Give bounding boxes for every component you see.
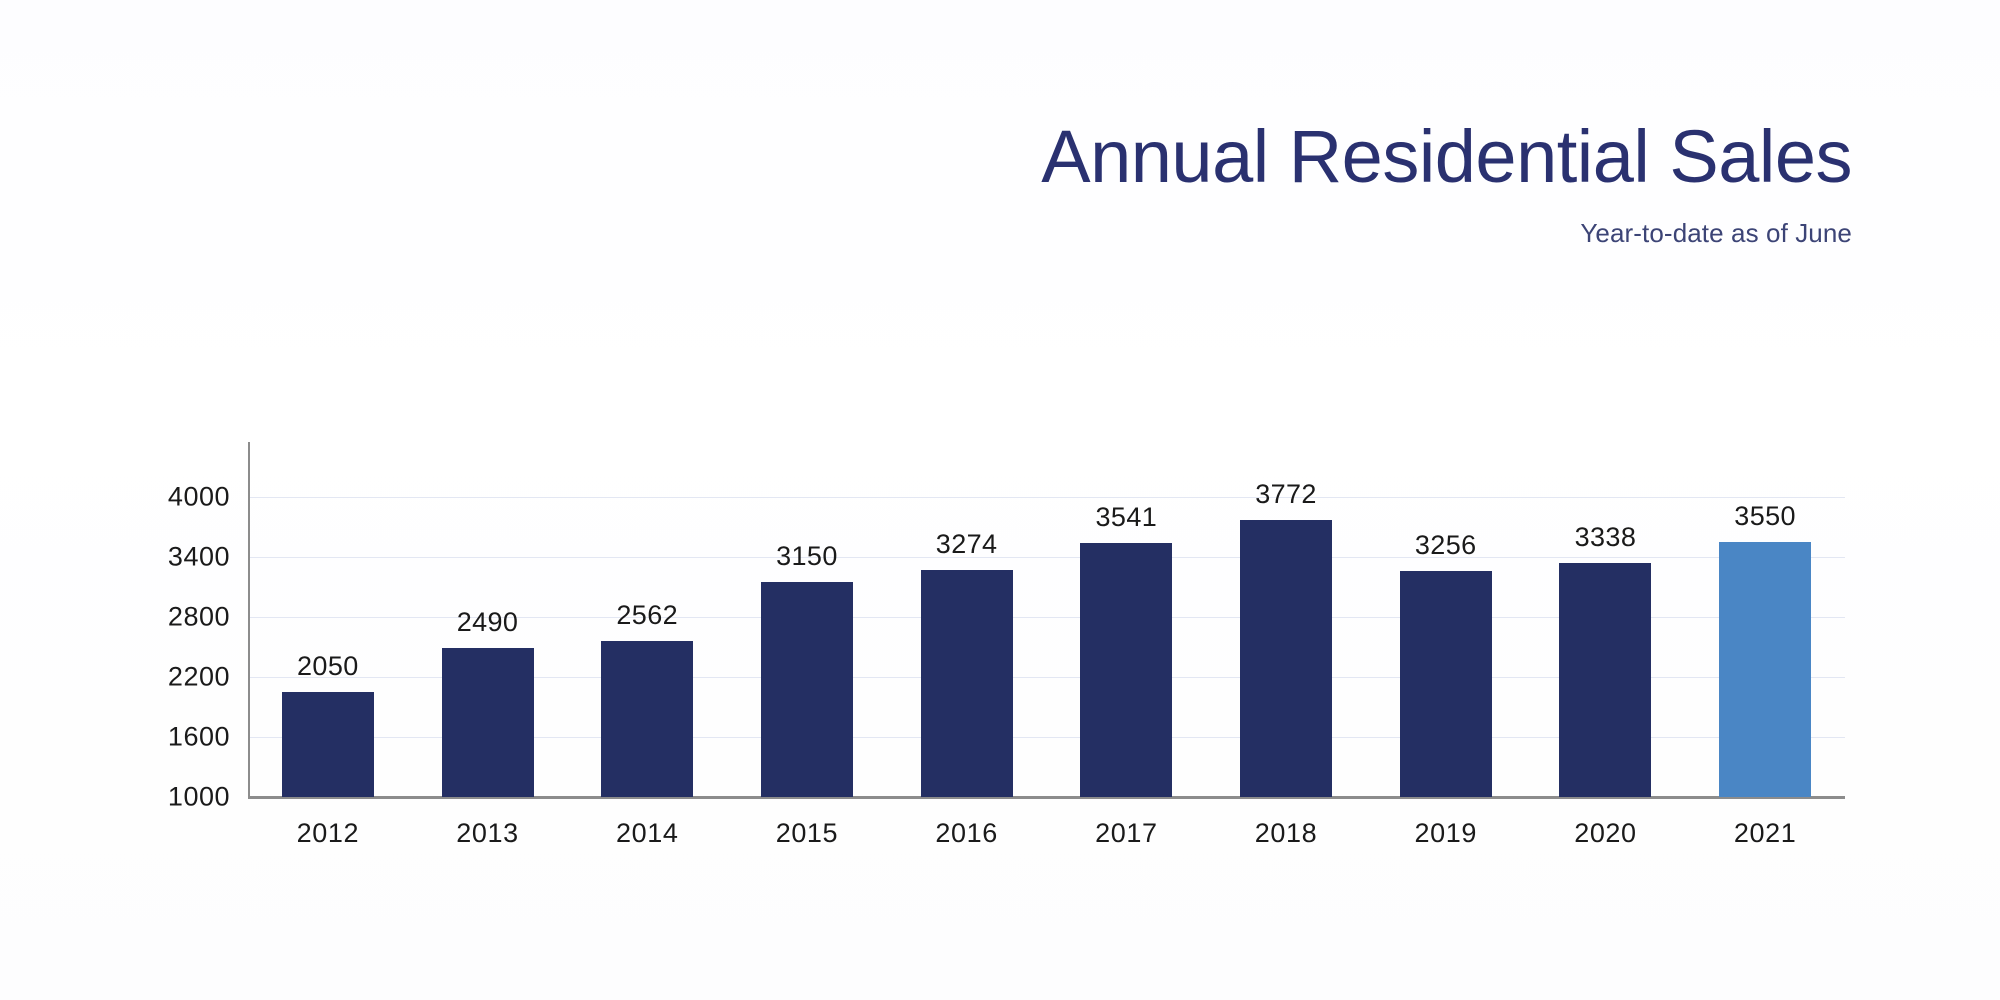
chart-header: Annual Residential Sales Year-to-date as… bbox=[652, 118, 1852, 249]
bar-2014[interactable] bbox=[601, 641, 693, 797]
x-axis-tick-label: 2020 bbox=[1526, 818, 1686, 849]
bar-2012[interactable] bbox=[282, 692, 374, 797]
bar-2017[interactable] bbox=[1080, 543, 1172, 797]
y-axis-tick-label: 1600 bbox=[50, 722, 230, 753]
bar-slot: 2562 bbox=[567, 442, 727, 797]
chart-subtitle: Year-to-date as of June bbox=[652, 218, 1852, 249]
y-axis-tick-label: 2200 bbox=[50, 662, 230, 693]
bar-slot: 3150 bbox=[727, 442, 887, 797]
bar-value-label: 3274 bbox=[887, 529, 1047, 560]
x-axis-tick-label: 2013 bbox=[408, 818, 568, 849]
bar-slot: 2490 bbox=[408, 442, 568, 797]
x-axis-tick-label: 2017 bbox=[1047, 818, 1207, 849]
bar-2018[interactable] bbox=[1240, 520, 1332, 797]
bar-value-label: 2490 bbox=[408, 607, 568, 638]
bar-2015[interactable] bbox=[761, 582, 853, 797]
page-title: Annual Residential Sales bbox=[652, 118, 1852, 196]
bar-slot: 3772 bbox=[1206, 442, 1366, 797]
bar-value-label: 3541 bbox=[1047, 502, 1207, 533]
bar-slot: 2050 bbox=[248, 442, 408, 797]
bars-group: 2050249025623150327435413772325633383550 bbox=[248, 442, 1845, 797]
bar-value-label: 3256 bbox=[1366, 530, 1526, 561]
x-axis-tick-label: 2019 bbox=[1366, 818, 1526, 849]
bar-2013[interactable] bbox=[442, 648, 534, 797]
bar-value-label: 3150 bbox=[727, 541, 887, 572]
bar-value-label: 2050 bbox=[248, 651, 408, 682]
bar-slot: 3256 bbox=[1366, 442, 1526, 797]
y-axis-tick-label: 4000 bbox=[50, 482, 230, 513]
bar-2021[interactable] bbox=[1719, 542, 1811, 797]
x-axis-tick-label: 2015 bbox=[727, 818, 887, 849]
bar-slot: 3550 bbox=[1685, 442, 1845, 797]
x-axis-tick-label: 2016 bbox=[887, 818, 1047, 849]
x-axis-tick-label: 2014 bbox=[567, 818, 727, 849]
y-axis-tick-label: 1000 bbox=[50, 782, 230, 813]
bar-slot: 3541 bbox=[1047, 442, 1207, 797]
bar-slot: 3274 bbox=[887, 442, 1047, 797]
bar-2020[interactable] bbox=[1559, 563, 1651, 797]
x-axis-tick-label: 2021 bbox=[1685, 818, 1845, 849]
y-axis-tick-label: 3400 bbox=[50, 542, 230, 573]
bar-value-label: 2562 bbox=[567, 600, 727, 631]
bar-slot: 3338 bbox=[1526, 442, 1686, 797]
x-axis-tick-label: 2012 bbox=[248, 818, 408, 849]
chart-canvas: Annual Residential Sales Year-to-date as… bbox=[0, 0, 2000, 1000]
bar-value-label: 3550 bbox=[1685, 501, 1845, 532]
bar-value-label: 3772 bbox=[1206, 479, 1366, 510]
bar-2019[interactable] bbox=[1400, 571, 1492, 797]
bar-2016[interactable] bbox=[921, 570, 1013, 797]
bar-value-label: 3338 bbox=[1526, 522, 1686, 553]
y-axis-tick-label: 2800 bbox=[50, 602, 230, 633]
x-axis-tick-label: 2018 bbox=[1206, 818, 1366, 849]
